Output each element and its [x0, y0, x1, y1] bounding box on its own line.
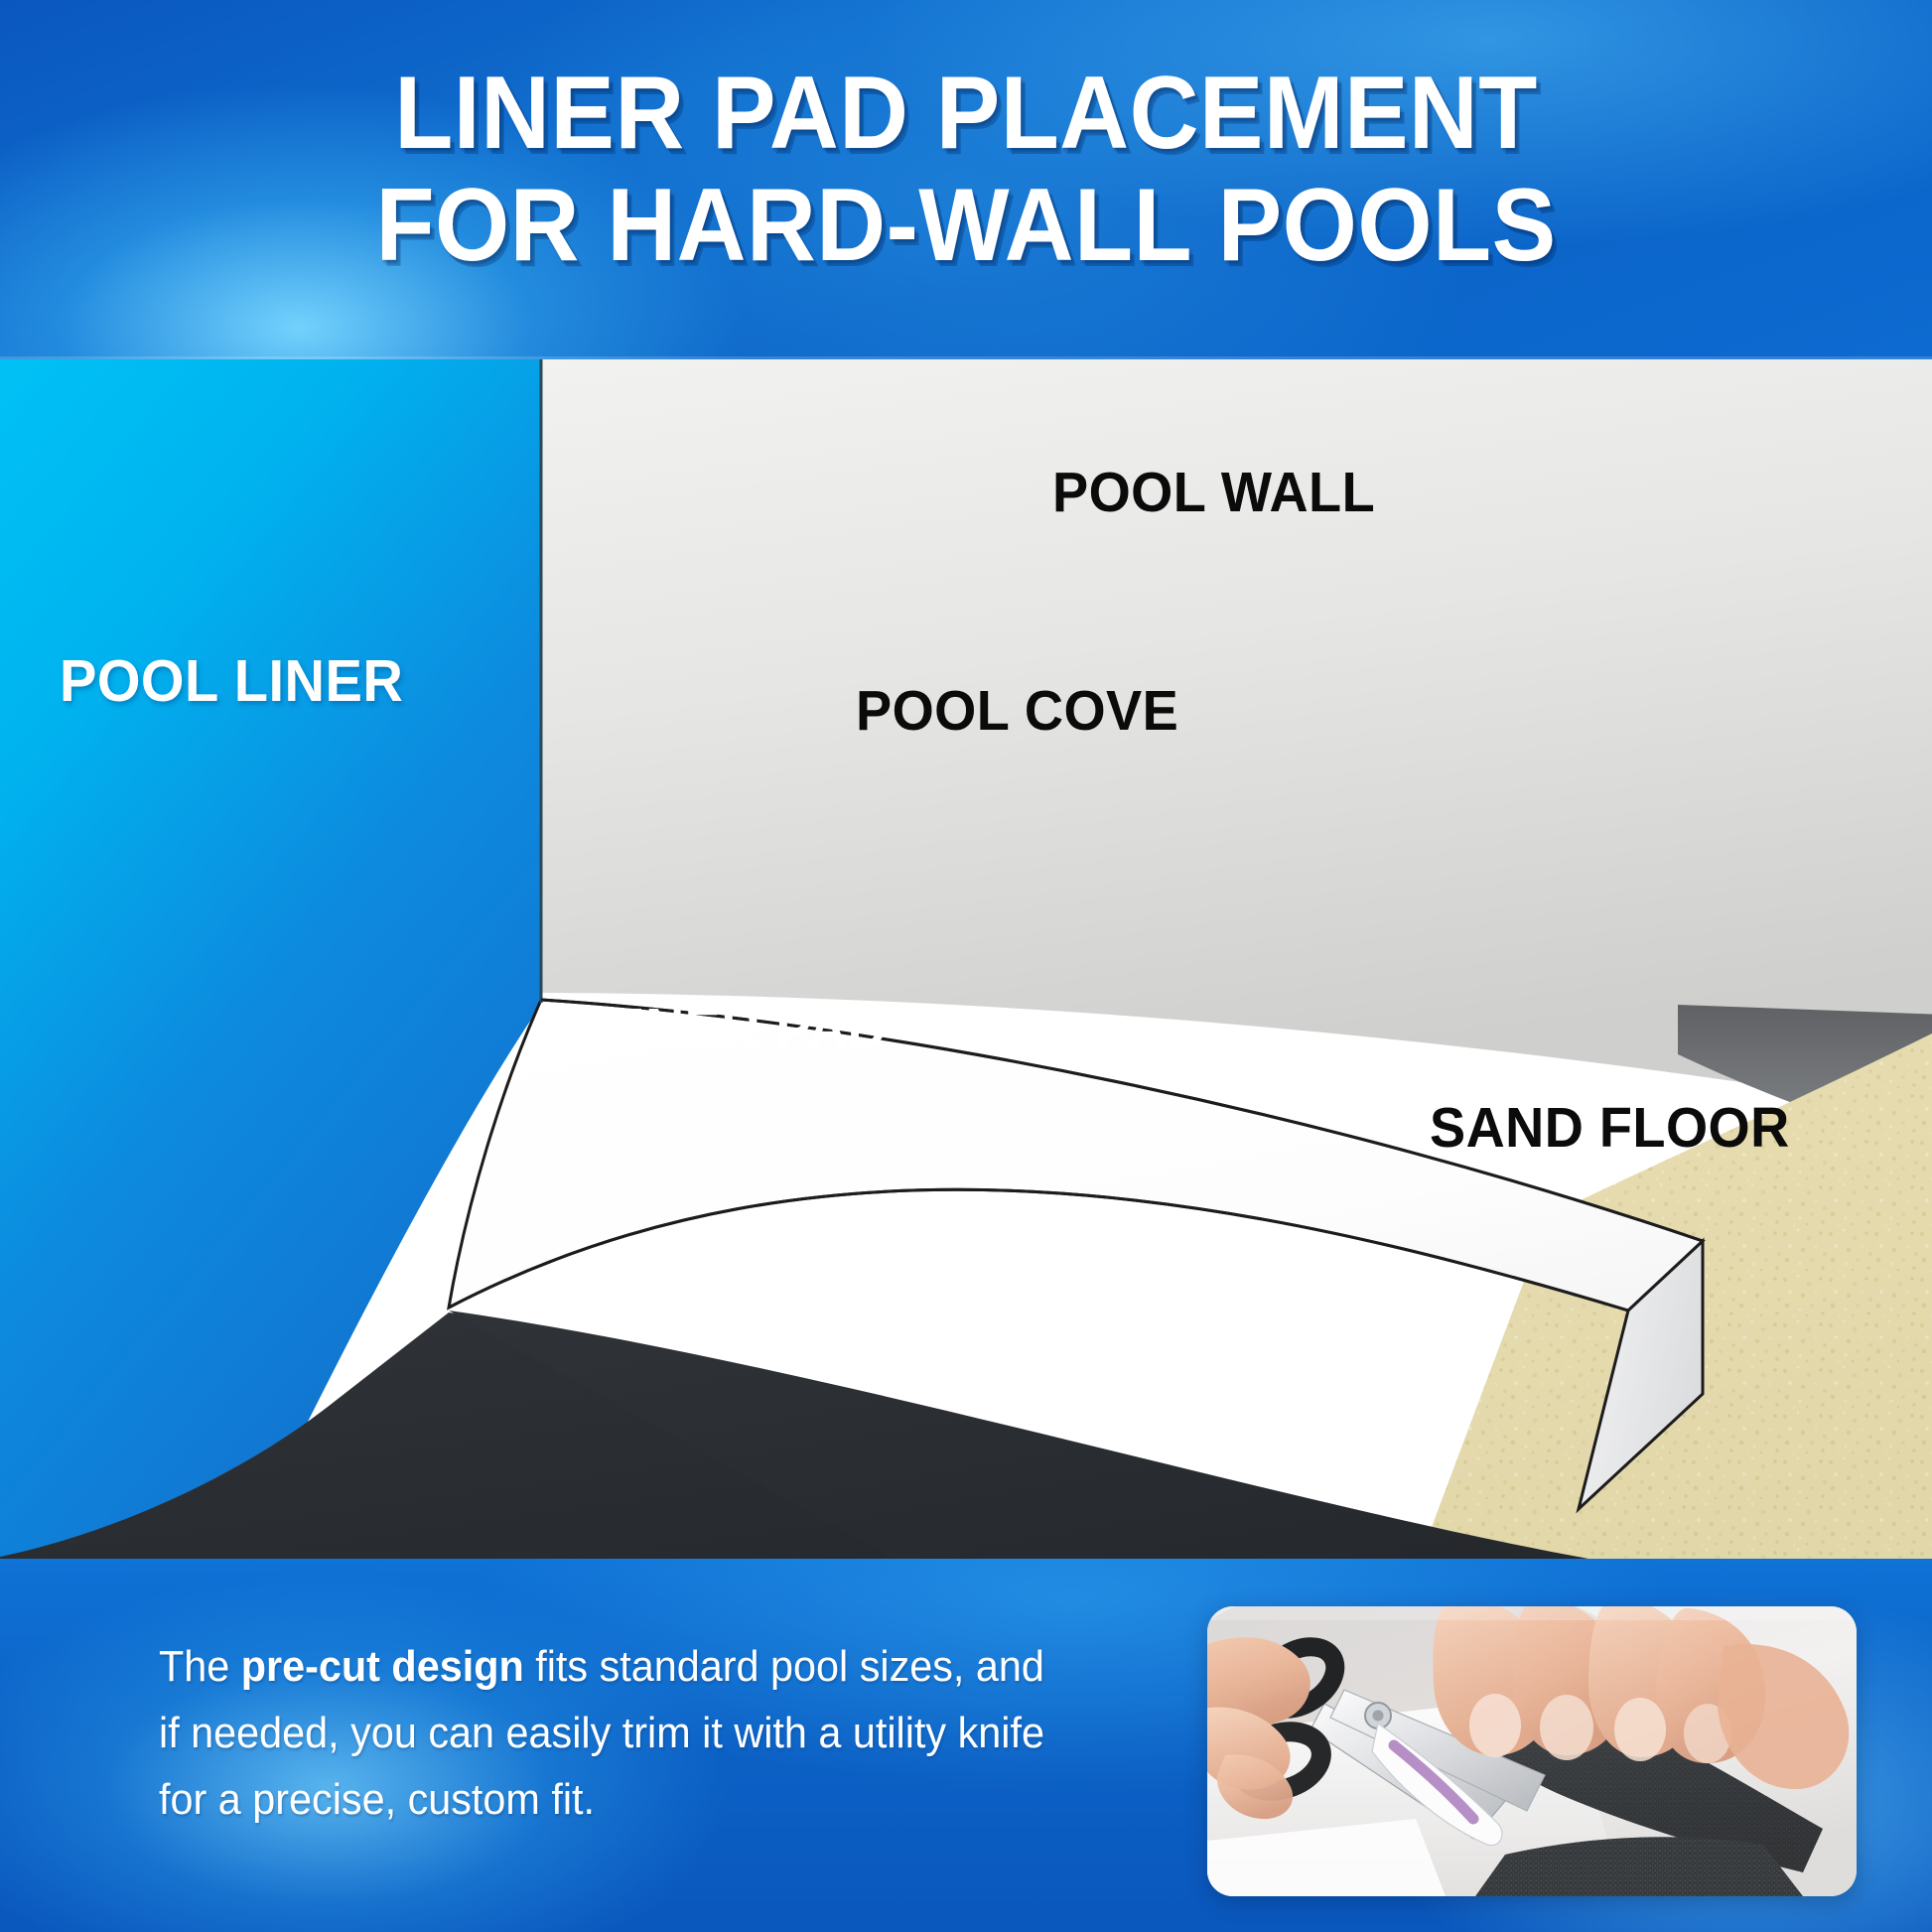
trim-photo-inset	[1207, 1606, 1857, 1896]
caption-bold: pre-cut design	[241, 1642, 524, 1691]
label-liner-pad: LINER PAD	[597, 996, 887, 1061]
label-pool-cove: POOL COVE	[856, 678, 1178, 744]
label-sand-floor: SAND FLOOR	[1430, 1095, 1790, 1161]
photo-illustration	[1207, 1606, 1857, 1896]
title-banner: LINER PAD PLACEMENT FOR HARD-WALL POOLS	[0, 0, 1932, 359]
caption-text: The pre-cut design fits standard pool si…	[159, 1634, 1073, 1834]
title-line-2: FOR HARD-WALL POOLS	[123, 170, 1809, 282]
title-block: LINER PAD PLACEMENT FOR HARD-WALL POOLS	[0, 58, 1932, 283]
caption-part-1: The	[159, 1642, 241, 1691]
label-pool-wall: POOL WALL	[1052, 460, 1375, 525]
cross-section-diagram: POOL LINER POOL WALL POOL COVE LINER PAD…	[0, 359, 1932, 1559]
title-line-1: LINER PAD PLACEMENT	[123, 58, 1809, 170]
label-pool-liner: POOL LINER	[60, 647, 403, 715]
infographic-poster: LINER PAD PLACEMENT FOR HARD-WALL POOLS	[0, 0, 1932, 1932]
diagram-svg	[0, 359, 1932, 1559]
